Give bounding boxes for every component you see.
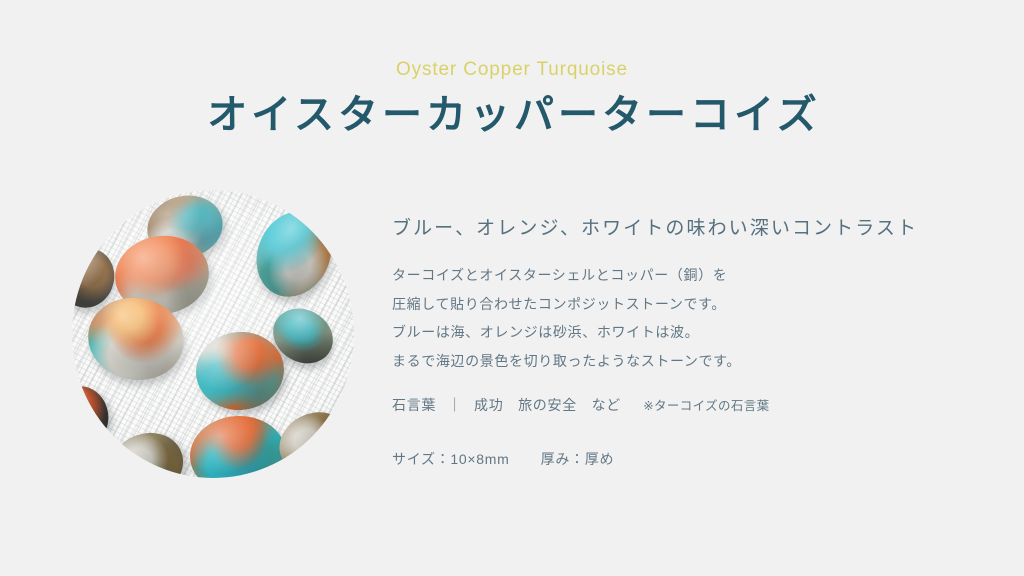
body-line: ターコイズとオイスターシェルとコッパー（銅）を [392, 261, 741, 290]
stone-meaning-label: 石言葉 [392, 397, 436, 413]
divider-glyph: ｜ [441, 394, 470, 416]
product-photo [72, 190, 354, 478]
page-title: オイスターカッパーターコイズ [0, 90, 1024, 140]
lead-description: ブルー、オレンジ、ホワイトの味わい深いコントラスト [392, 215, 918, 244]
body-line: ブルーは海、オレンジは砂浜、ホワイトは波。 [392, 318, 741, 347]
stone-meaning-row: 石言葉 ｜ 成功 旅の安全 など ※ターコイズの石言葉 [392, 394, 770, 416]
header: Oyster Copper Turquoise オイスターカッパーターコイズ [0, 58, 1024, 167]
spec-size: サイズ：10×8mm [392, 451, 509, 467]
product-photo-circle [72, 190, 354, 478]
stone-meaning-note: ※ターコイズの石言葉 [643, 399, 769, 413]
spec-thickness: 厚み：厚め [541, 451, 615, 467]
slide-root: Oyster Copper Turquoise オイスターカッパーターコイズ ブ… [0, 0, 1024, 576]
body-line: まるで海辺の景色を切り取ったようなストーンです。 [392, 347, 741, 376]
spec-row: サイズ：10×8mm 厚み：厚め [392, 448, 614, 470]
stone-meaning-values: 成功 旅の安全 など [474, 397, 621, 413]
english-subtitle: Oyster Copper Turquoise [0, 58, 1024, 82]
body-line: 圧縮して貼り合わせたコンポジットストーンです。 [392, 290, 741, 319]
body-copy: ターコイズとオイスターシェルとコッパー（銅）を 圧縮して貼り合わせたコンポジット… [392, 261, 741, 376]
